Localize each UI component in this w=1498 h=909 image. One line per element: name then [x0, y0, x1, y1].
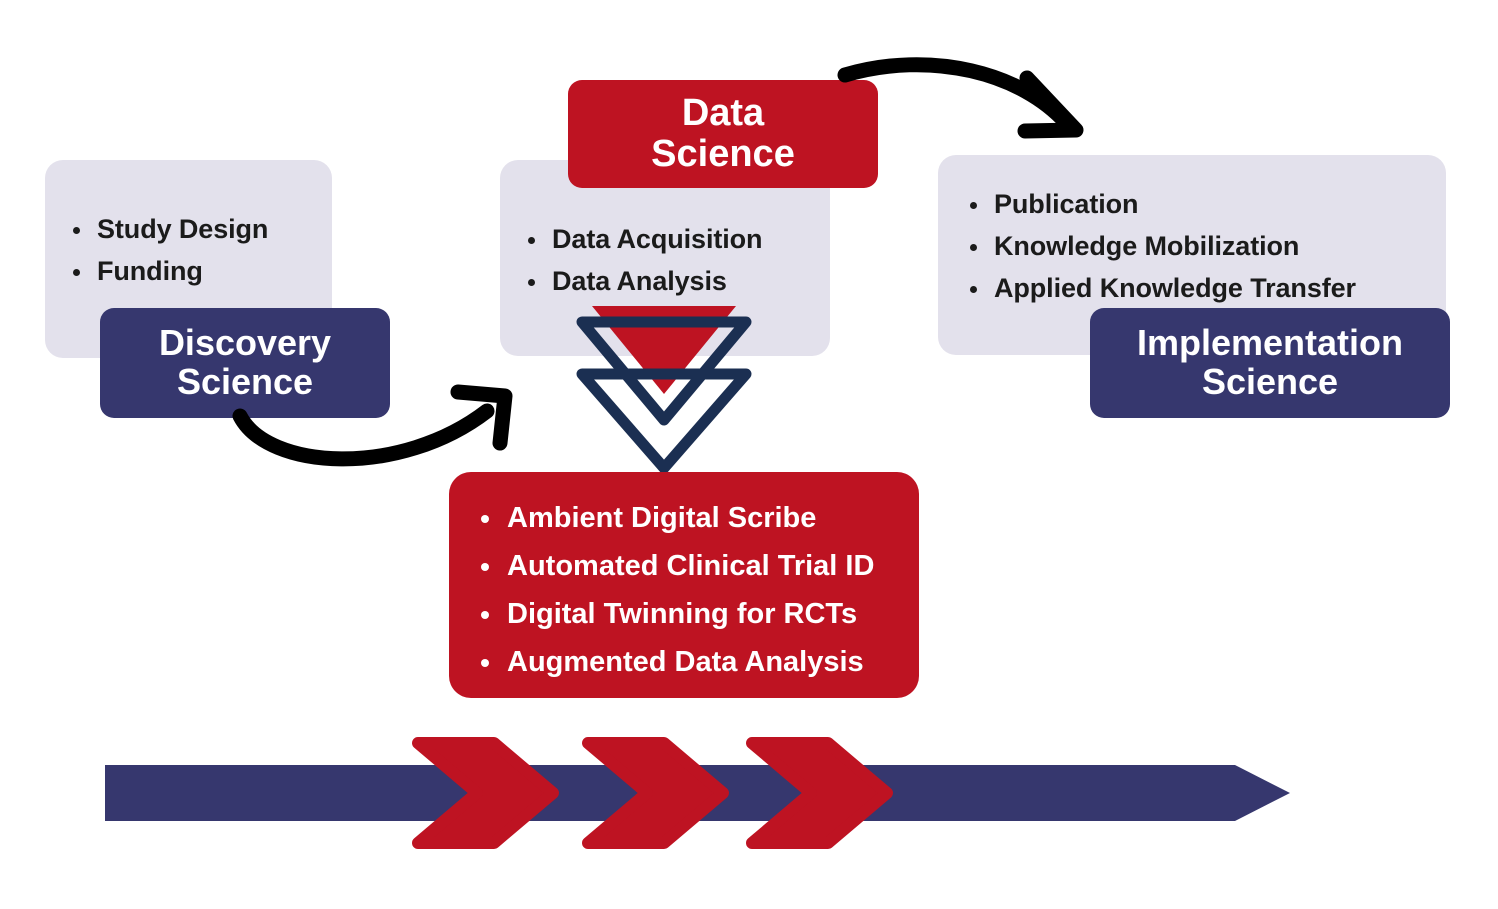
chevron-right-icon: [418, 743, 553, 843]
arrow-data-to-implementation-icon: [845, 65, 1076, 131]
list-item: Automated Clinical Trial ID: [471, 542, 919, 590]
label-line-2: Science: [651, 134, 795, 175]
list-item: Data Acquisition: [518, 218, 830, 260]
label-line-1: Discovery: [159, 324, 331, 363]
list-item: Data Analysis: [518, 260, 830, 302]
data-science-item-list: Data Acquisition Data Analysis: [518, 218, 830, 302]
list-item: Digital Twinning for RCTs: [471, 590, 919, 638]
card-ai-applications: Ambient Digital Scribe Automated Clinica…: [449, 472, 919, 698]
discovery-item-list: Study Design Funding: [63, 208, 332, 292]
chevron-right-icon: [588, 743, 723, 843]
list-item: Funding: [63, 250, 332, 292]
label-discovery-science: Discovery Science: [100, 308, 390, 418]
card-data-science: Data Acquisition Data Analysis: [500, 160, 830, 356]
label-line-1: Implementation: [1137, 324, 1403, 363]
process-timeline-arrow-icon: [105, 765, 1290, 821]
funnel-outline-triangle-lower: [582, 374, 746, 468]
applications-item-list: Ambient Digital Scribe Automated Clinica…: [471, 494, 919, 686]
chevron-right-icon: [752, 743, 887, 843]
diagram-canvas: Study Design Funding Data Acquisition Da…: [0, 0, 1498, 909]
list-item: Ambient Digital Scribe: [471, 494, 919, 542]
list-item: Augmented Data Analysis: [471, 638, 919, 686]
list-item: Publication: [960, 183, 1446, 225]
list-item: Knowledge Mobilization: [960, 225, 1446, 267]
list-item: Study Design: [63, 208, 332, 250]
timeline-chevrons: [418, 743, 887, 843]
label-line-2: Science: [159, 363, 331, 402]
label-data-science: Data Science: [568, 80, 878, 188]
implementation-item-list: Publication Knowledge Mobilization Appli…: [960, 183, 1446, 309]
label-implementation-science: Implementation Science: [1090, 308, 1450, 418]
list-item: Applied Knowledge Transfer: [960, 267, 1446, 309]
label-line-1: Data: [651, 93, 795, 134]
label-line-2: Science: [1137, 363, 1403, 402]
